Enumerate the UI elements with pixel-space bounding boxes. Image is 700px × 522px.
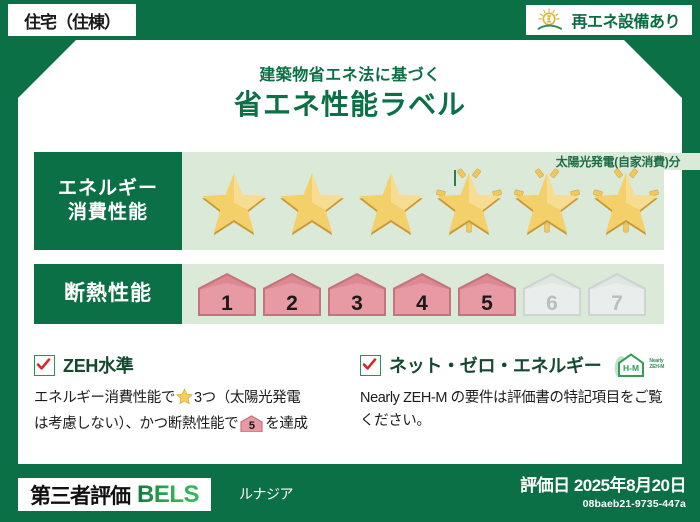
bels-logo-text: BELS bbox=[137, 481, 199, 509]
insulation-level-scale: 1234567 bbox=[182, 264, 664, 324]
insulation-level-badge-3: 3 bbox=[326, 271, 388, 317]
svg-text:H-M: H-M bbox=[623, 363, 639, 373]
star-icon bbox=[509, 159, 585, 243]
zeh-title: ZEH水準 bbox=[63, 352, 134, 378]
insulation-level-badge-7: 7 bbox=[586, 271, 648, 317]
building-type-text: 住宅（住棟） bbox=[24, 8, 120, 33]
insulation-performance-row: 断熱性能 1234567 bbox=[34, 264, 664, 324]
inline-level-value: 5 bbox=[240, 421, 263, 432]
solar-sun-icon bbox=[536, 8, 564, 32]
star-icon bbox=[274, 159, 350, 243]
net-zero-title: ネット・ゼロ・エネルギー bbox=[389, 352, 601, 378]
star-icon bbox=[431, 159, 507, 243]
building-type-tag: 住宅（住棟） bbox=[8, 4, 136, 36]
insulation-level-value: 5 bbox=[456, 293, 518, 314]
energy-label-line2: 消費性能 bbox=[68, 201, 148, 225]
insulation-level-value: 1 bbox=[196, 293, 258, 314]
zeh-desc-part4: を達成 bbox=[265, 416, 307, 432]
star-icon bbox=[196, 159, 272, 243]
net-zero-checkbox[interactable] bbox=[360, 355, 381, 376]
zeh-desc-part2: 3つ（太陽光発電 bbox=[194, 390, 300, 406]
renewable-equipment-badge: 再エネ設備あり bbox=[526, 5, 692, 35]
zeh-m-logo-caption: Nearly ZEH-M bbox=[649, 359, 664, 371]
criterion-zeh-header: ZEH水準 bbox=[34, 352, 334, 378]
insulation-level-badge-4: 4 bbox=[391, 271, 453, 317]
zeh-desc-part1: エネルギー消費性能で bbox=[34, 390, 175, 406]
company-name: ルナジア bbox=[239, 484, 293, 504]
insulation-label-text: 断熱性能 bbox=[64, 281, 152, 307]
insulation-level-badge-1: 1 bbox=[196, 271, 258, 317]
criterion-nze-header: ネット・ゼロ・エネルギー H-M Nearly ZEH-M bbox=[360, 352, 666, 378]
criterion-zeh: ZEH水準 エネルギー消費性能で3つ（太陽光発電 は考慮しない）、かつ断熱性能で… bbox=[34, 352, 334, 437]
zeh-m-logo: H-M Nearly ZEH-M bbox=[613, 352, 664, 378]
insulation-level-badge-5: 5 bbox=[456, 271, 518, 317]
zeh-desc-part3: は考慮しない）、かつ断熱性能で bbox=[34, 416, 238, 432]
evaluation-date: 評価日 2025年8月20日 bbox=[520, 471, 686, 496]
insulation-level-badge-2: 2 bbox=[261, 271, 323, 317]
energy-performance-label-box: エネルギー 消費性能 bbox=[34, 152, 182, 250]
inline-star-icon bbox=[176, 388, 193, 413]
zeh-m-caption-line2: ZEH-M bbox=[649, 364, 664, 370]
insulation-level-value: 2 bbox=[261, 293, 323, 314]
zeh-checkbox[interactable] bbox=[34, 355, 55, 376]
document-id: 08baeb21-9735-447a bbox=[520, 498, 686, 510]
footer-meta: 評価日 2025年8月20日 08baeb21-9735-447a bbox=[520, 471, 686, 510]
zeh-description: エネルギー消費性能で3つ（太陽光発電 は考慮しない）、かつ断熱性能で5を達成 bbox=[34, 387, 334, 437]
star-icon bbox=[353, 159, 429, 243]
net-zero-description: Nearly ZEH-M の要件は評価書の特記項目をご覧ください。 bbox=[360, 387, 666, 434]
insulation-level-value: 3 bbox=[326, 293, 388, 314]
star-rating bbox=[182, 152, 664, 250]
bels-footer-box: 第三者評価 BELS bbox=[18, 478, 211, 511]
energy-performance-label: 住宅（住棟） 再エネ設備あり 建築物省エネ法に基づく bbox=[0, 0, 700, 522]
label-title: 省エネ性能ラベル bbox=[18, 83, 682, 123]
inline-level-badge: 5 bbox=[240, 415, 263, 432]
label-subtitle: 建築物省エネ法に基づく bbox=[18, 61, 682, 85]
renewable-badge-text: 再エネ設備あり bbox=[571, 8, 680, 32]
energy-label-line1: エネルギー bbox=[58, 177, 158, 201]
criterion-net-zero-energy: ネット・ゼロ・エネルギー H-M Nearly ZEH-M Nearly ZEH… bbox=[360, 352, 666, 434]
insulation-level-badge-6: 6 bbox=[521, 271, 583, 317]
insulation-performance-label-box: 断熱性能 bbox=[34, 264, 182, 324]
star-icon bbox=[588, 159, 664, 243]
third-party-evaluation-label: 第三者評価 bbox=[30, 480, 130, 510]
insulation-level-value: 6 bbox=[521, 293, 583, 314]
energy-performance-row: エネルギー 消費性能 太陽光発電(自家消費)分 bbox=[34, 152, 664, 250]
insulation-performance-body: 1234567 bbox=[182, 264, 664, 324]
insulation-level-value: 4 bbox=[391, 293, 453, 314]
insulation-level-value: 7 bbox=[586, 293, 648, 314]
energy-performance-body: 太陽光発電(自家消費)分 bbox=[182, 152, 664, 250]
